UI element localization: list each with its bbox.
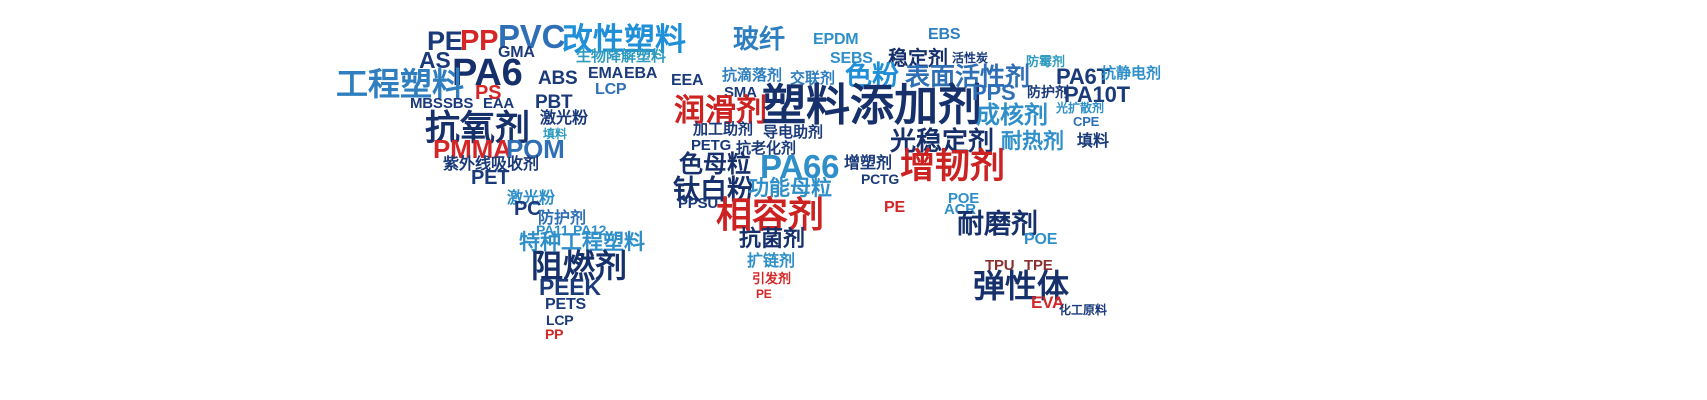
cloud-word[interactable]: EMA <box>588 66 623 82</box>
cloud-word[interactable]: LCP <box>595 82 626 98</box>
cloud-word[interactable]: PE <box>756 288 772 300</box>
cloud-word[interactable]: 引发剂 <box>752 273 791 286</box>
cloud-word[interactable]: 抗静电剂 <box>1101 66 1161 81</box>
cloud-word[interactable]: PCTG <box>861 172 899 186</box>
cloud-word[interactable]: 激光粉 <box>540 110 588 126</box>
cloud-word[interactable]: EBS <box>928 27 960 43</box>
cloud-word[interactable]: PPSU <box>678 196 718 211</box>
cloud-word[interactable]: 成核剂 <box>976 103 1048 127</box>
cloud-word[interactable]: EEA <box>671 73 703 89</box>
cloud-word[interactable]: 塑料添加剂 <box>762 84 982 128</box>
cloud-word[interactable]: PE <box>884 200 905 216</box>
cloud-word[interactable]: 增韧剂 <box>900 150 1005 185</box>
cloud-word[interactable]: EPDM <box>813 32 858 48</box>
cloud-word[interactable]: PETS <box>545 297 586 313</box>
cloud-word[interactable]: LCP <box>546 313 573 327</box>
cloud-word[interactable]: 填料 <box>1077 133 1109 149</box>
cloud-word[interactable]: 生物降解塑料 <box>576 49 666 64</box>
cloud-word[interactable]: ABS <box>538 69 578 88</box>
cloud-word[interactable]: POE <box>1024 232 1057 248</box>
cloud-word[interactable]: 化工原料 <box>1059 304 1107 316</box>
cloud-word[interactable]: CPE <box>1073 115 1099 128</box>
cloud-word[interactable]: 防护剂 <box>1027 86 1069 100</box>
cloud-word[interactable]: 抗菌剂 <box>739 229 805 251</box>
cloud-word[interactable]: EBA <box>624 66 657 82</box>
cloud-word[interactable]: 光扩散剂 <box>1056 102 1104 114</box>
cloud-word[interactable]: 增塑剂 <box>844 155 892 171</box>
cloud-word[interactable]: 导电助剂 <box>763 125 823 140</box>
cloud-word[interactable]: 加工助剂 <box>693 122 753 137</box>
cloud-word[interactable]: 扩链剂 <box>747 253 795 269</box>
word-cloud-canvas: PEPPPVCGMA改性塑料生物降解塑料玻纤EPDMEBSASPA6工程塑料AB… <box>0 0 1707 400</box>
cloud-word[interactable]: 玻纤 <box>733 27 785 53</box>
cloud-word[interactable]: 色母粒 <box>679 152 751 176</box>
cloud-word[interactable]: PP <box>545 327 563 341</box>
cloud-word[interactable]: 耐热剂 <box>1001 131 1064 152</box>
cloud-word[interactable]: PS <box>475 83 501 103</box>
cloud-word[interactable]: PET <box>471 168 509 188</box>
